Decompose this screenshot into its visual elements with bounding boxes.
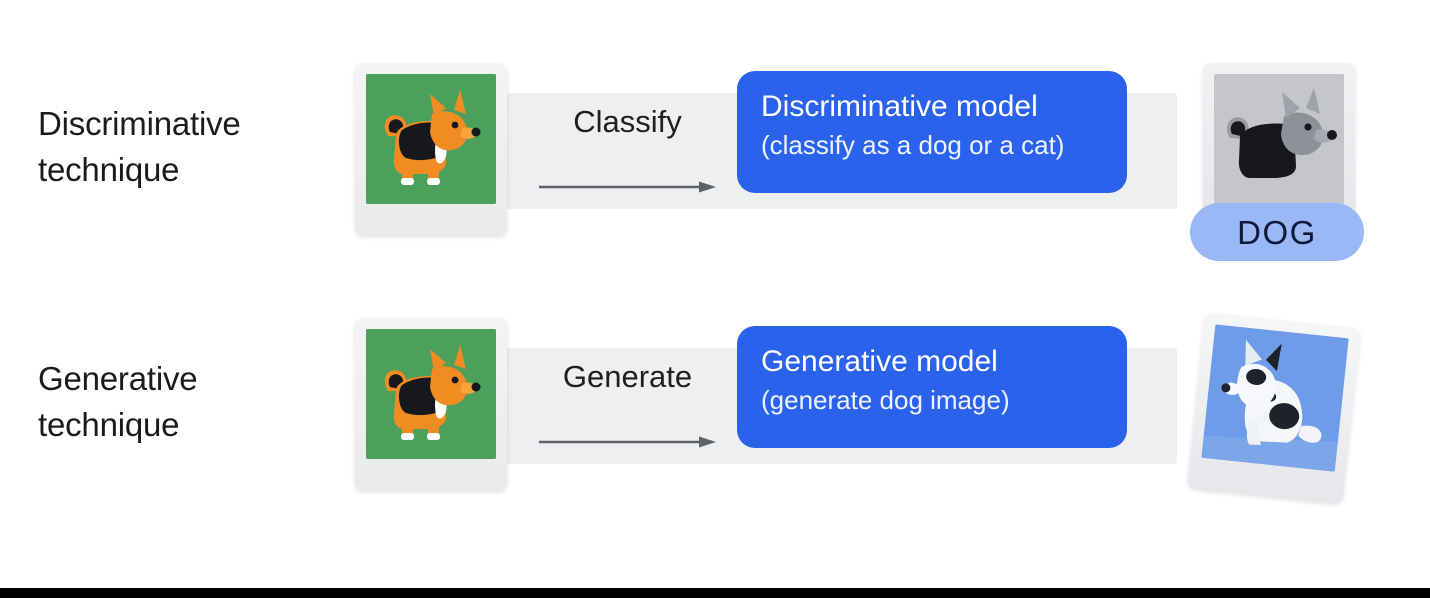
model-subtitle: (classify as a dog or a cat)	[761, 127, 1105, 163]
grayscale-dog-illustration-icon	[1214, 74, 1344, 204]
model-title: Generative model	[761, 342, 1105, 382]
row-label-discriminative: Discriminative technique	[38, 101, 338, 193]
row-label-line-1: Discriminative	[38, 101, 338, 147]
model-box-generative[interactable]: Generative model (generate dog image)	[737, 326, 1127, 448]
arrow-label: Classify	[535, 103, 720, 141]
output-photo-card-generated	[1187, 312, 1361, 503]
row-label-generative: Generative technique	[38, 356, 338, 448]
arrow-right-icon	[539, 181, 717, 193]
model-title: Discriminative model	[761, 87, 1105, 127]
corgi-illustration-icon	[366, 329, 496, 459]
arrow-group-classify: Classify	[535, 103, 720, 203]
row-label-line-2: technique	[38, 402, 338, 448]
slide-canvas: Discriminative technique	[0, 0, 1430, 588]
corgi-illustration-icon	[366, 74, 496, 204]
row-label-line-2: technique	[38, 147, 338, 193]
row-label-line-1: Generative	[38, 356, 338, 402]
diagram-row-discriminative: Discriminative technique	[0, 55, 1430, 245]
bottom-black-bar	[0, 588, 1430, 598]
model-box-discriminative[interactable]: Discriminative model (classify as a dog …	[737, 71, 1127, 193]
input-photo-card	[355, 318, 507, 490]
arrow-group-generate: Generate	[535, 358, 720, 458]
arrow-label: Generate	[535, 358, 720, 396]
model-subtitle: (generate dog image)	[761, 382, 1105, 418]
arrow-right-icon	[539, 436, 717, 448]
diagram-row-generative: Generative technique	[0, 310, 1430, 500]
status-badge-label: DOG	[1237, 216, 1317, 249]
input-photo-card	[355, 63, 507, 235]
status-badge-dog: DOG	[1190, 203, 1364, 261]
generated-dog-illustration-icon	[1201, 324, 1348, 471]
